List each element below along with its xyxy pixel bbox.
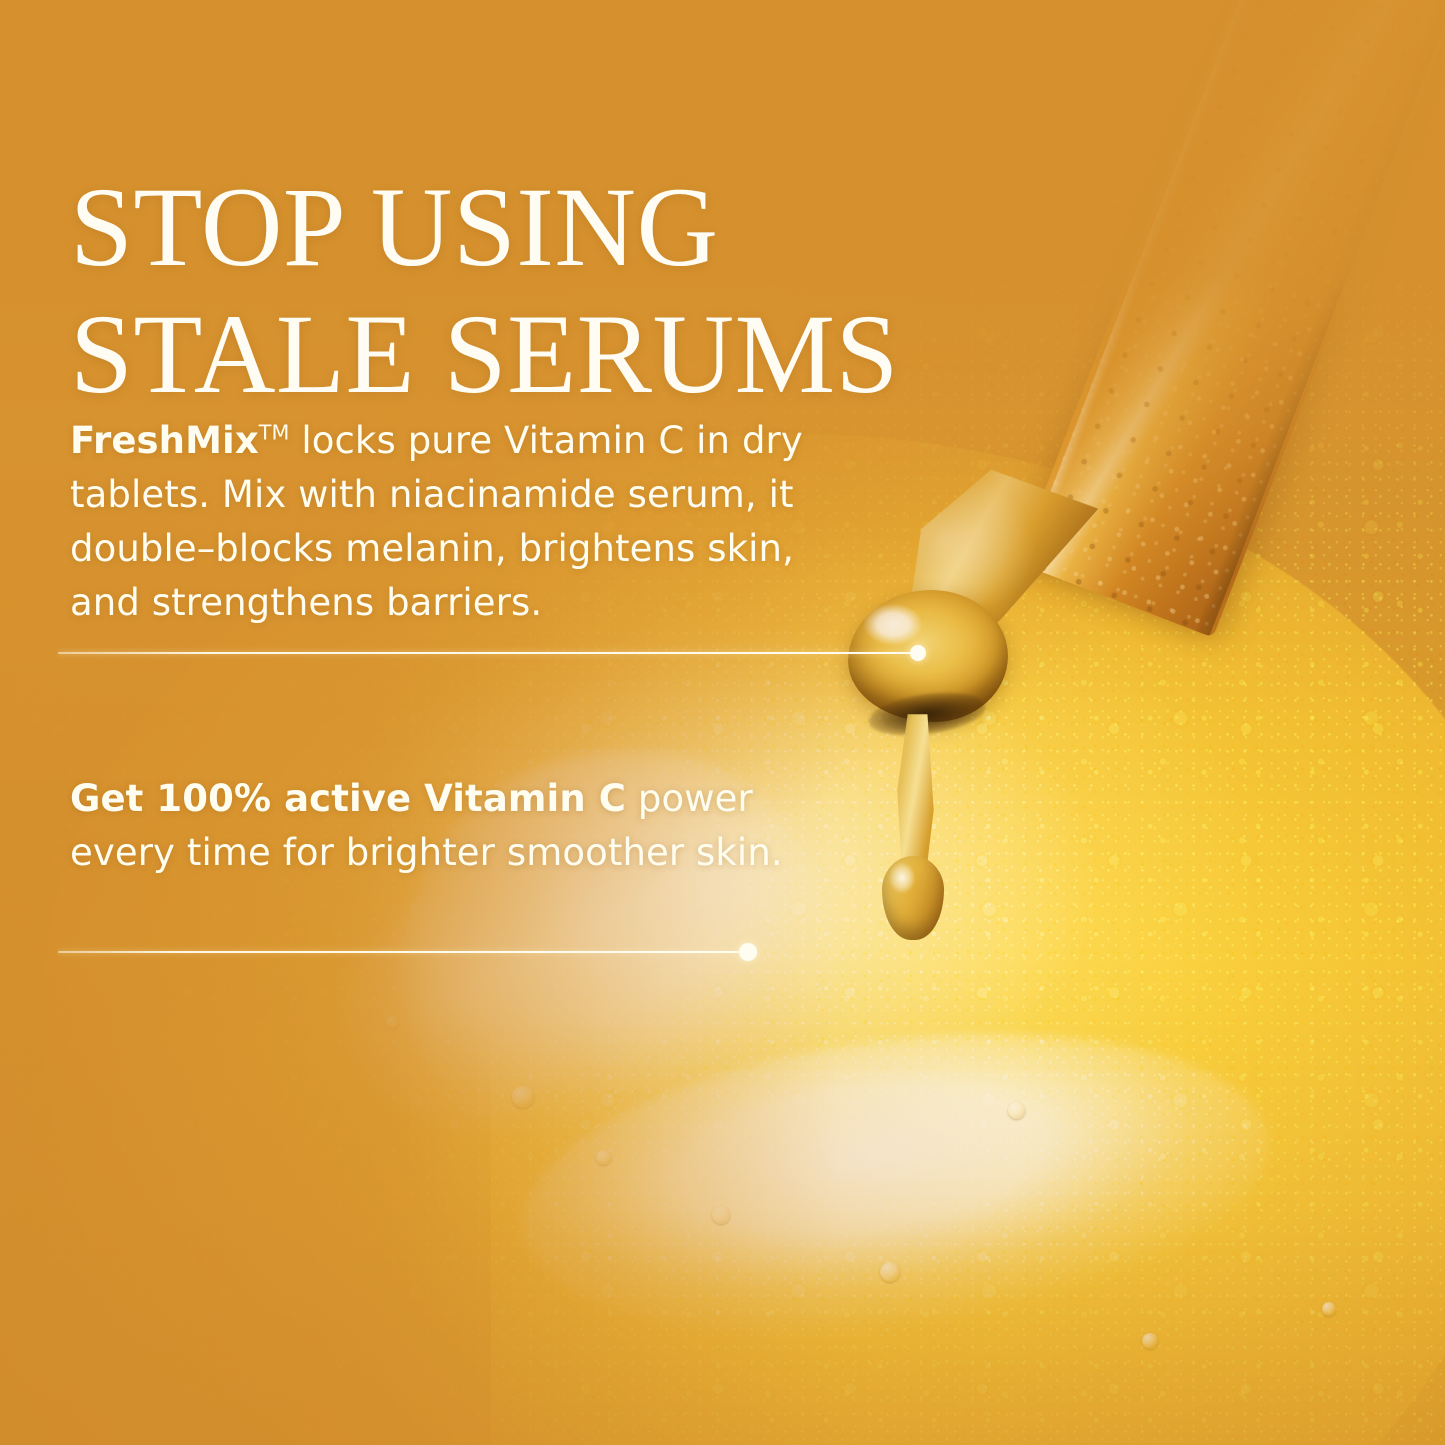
product-hero-poster: STOP USING STALE SERUMS FreshMixTM locks… bbox=[0, 0, 1445, 1445]
feature-block-freshmix: FreshMixTM locks pure Vitamin C in dry t… bbox=[70, 414, 860, 630]
trademark-symbol: TM bbox=[259, 421, 290, 445]
headline-line-1: STOP USING bbox=[70, 164, 1070, 292]
connector-endpoint-dot-1 bbox=[910, 645, 926, 661]
feature-paragraph: FreshMixTM locks pure Vitamin C in dry t… bbox=[70, 414, 860, 630]
feature-block-active-vitamin-c: Get 100% active Vitamin C power every ti… bbox=[70, 772, 790, 880]
poster-content: STOP USING STALE SERUMS FreshMixTM locks… bbox=[0, 0, 1445, 1445]
feature-paragraph: Get 100% active Vitamin C power every ti… bbox=[70, 772, 790, 880]
connector-rule-1 bbox=[58, 652, 920, 654]
feature-bold-lead: FreshMix bbox=[70, 419, 259, 462]
headline-line-2: STALE SERUMS bbox=[70, 291, 1070, 419]
connector-endpoint-dot-2 bbox=[739, 943, 757, 961]
feature-bold-lead: Get 100% active Vitamin C bbox=[70, 777, 626, 820]
page-title: STOP USING STALE SERUMS bbox=[70, 164, 1070, 419]
connector-rule-2 bbox=[58, 951, 750, 953]
